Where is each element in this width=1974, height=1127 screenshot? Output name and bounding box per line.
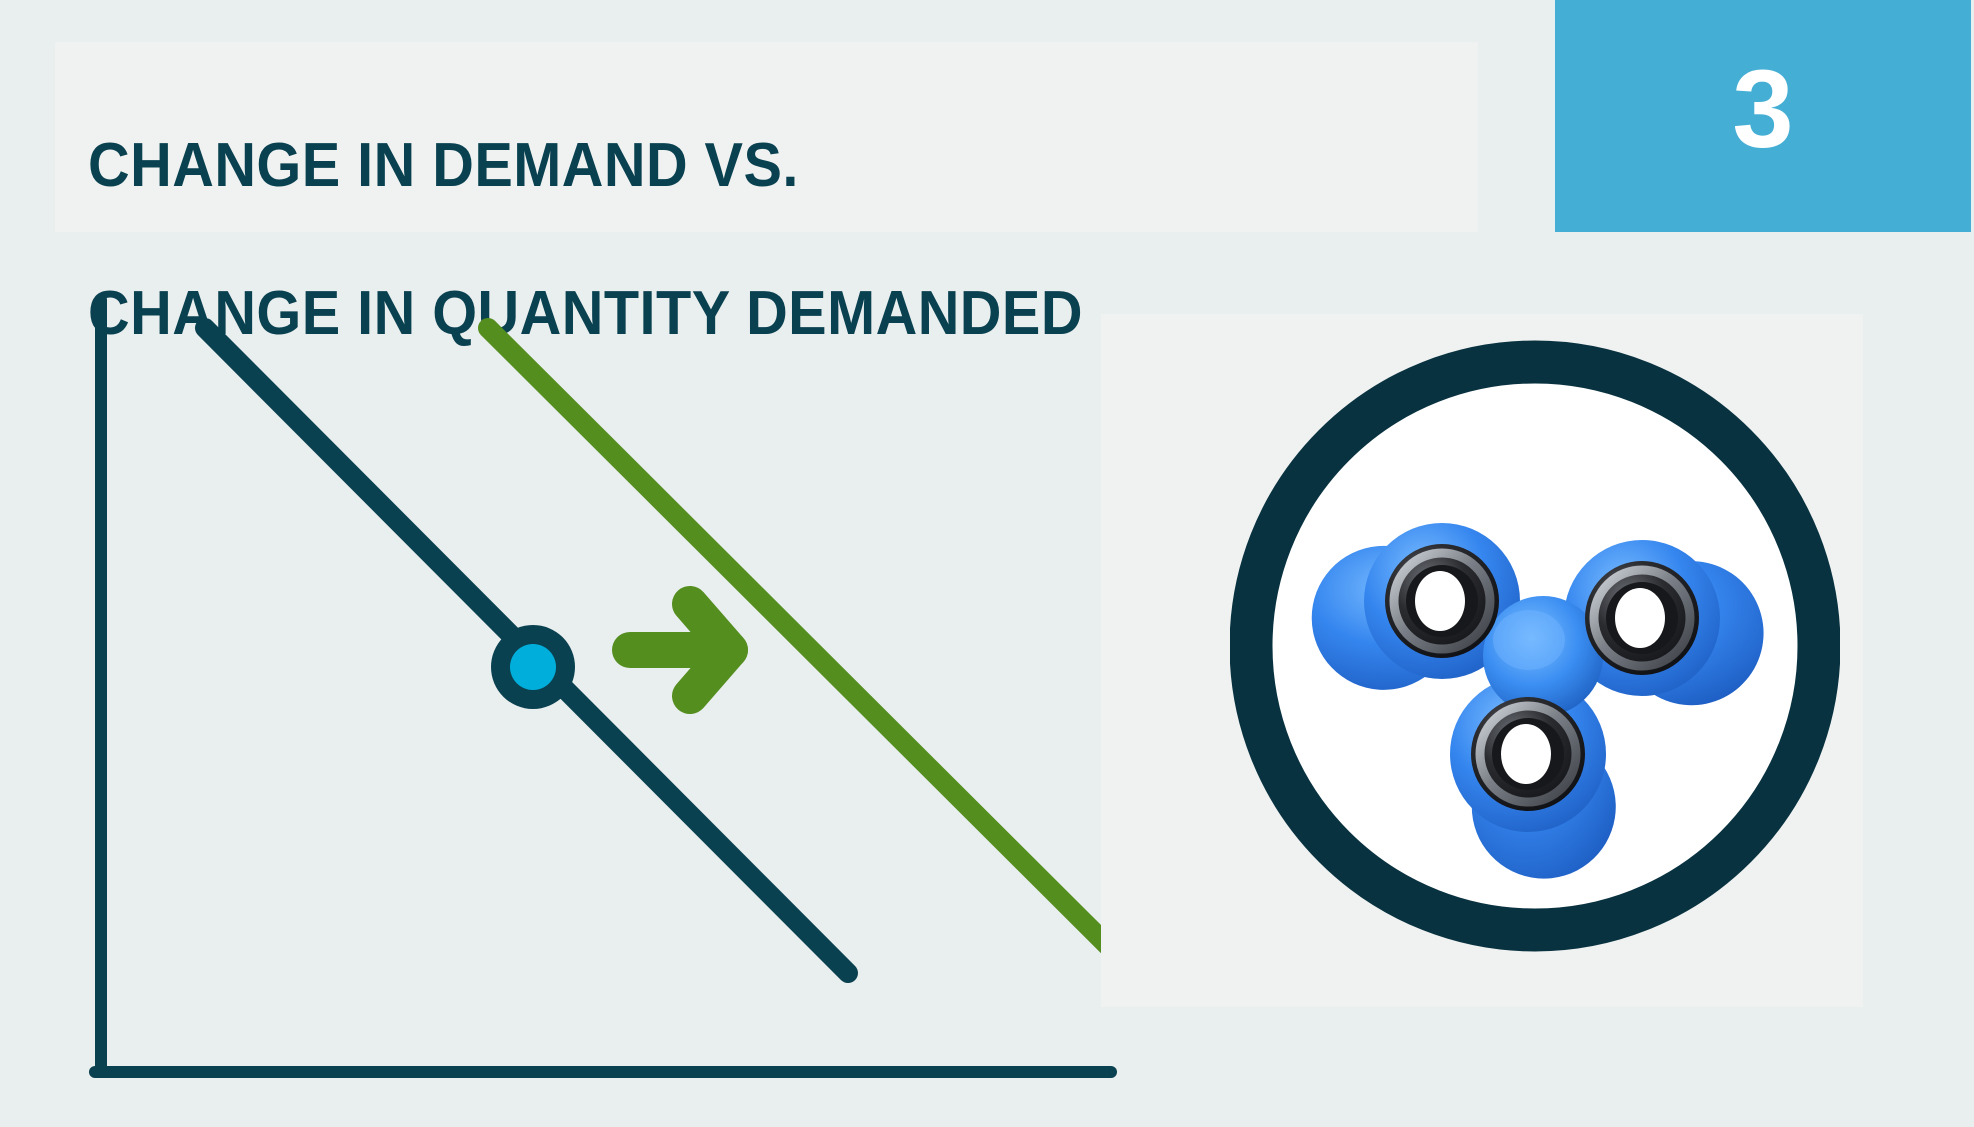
demand-curve-chart xyxy=(0,232,1150,1127)
spinner-bearing-right xyxy=(1585,561,1699,675)
equilibrium-point-core xyxy=(510,644,556,690)
slide-canvas: CHANGE IN DEMAND VS. CHANGE IN QUANTITY … xyxy=(0,0,1974,1127)
spinner-bearing-bottom xyxy=(1471,697,1585,811)
shifted-demand-curve xyxy=(488,328,1135,973)
page-title-line-1: CHANGE IN DEMAND VS. xyxy=(88,129,1390,203)
fidget-spinner-figure xyxy=(1230,340,1840,953)
demand-curve-svg xyxy=(0,232,1150,1127)
illustration-panel xyxy=(1101,314,1863,1007)
spinner-bearing-upper-left xyxy=(1385,544,1499,658)
slide-number-label: 3 xyxy=(1555,50,1971,170)
shift-arrow-icon xyxy=(630,604,730,696)
fidget-spinner-svg xyxy=(1230,340,1840,953)
slide-number-badge: 3 xyxy=(1555,0,1971,232)
spinner-hub-highlight xyxy=(1493,610,1565,670)
